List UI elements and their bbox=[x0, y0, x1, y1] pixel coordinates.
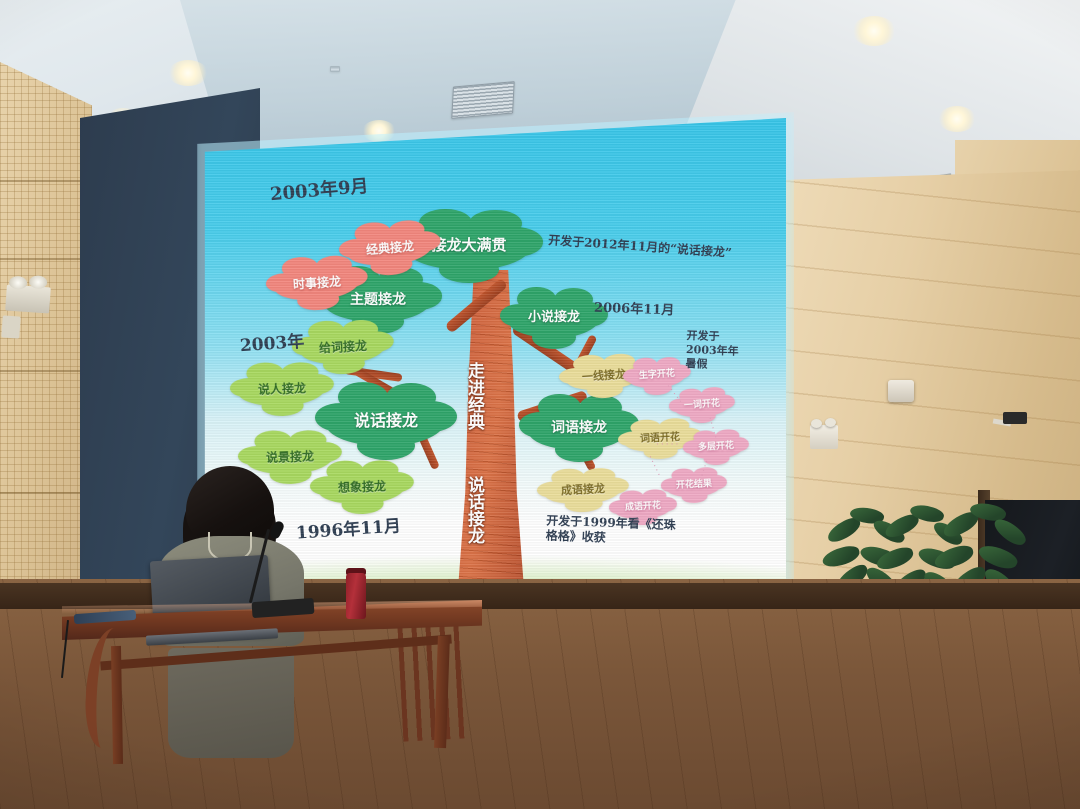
slide-node-chengyu-jielong[interactable]: 成语接龙 bbox=[543, 474, 622, 506]
trunk-text-line1: 走进经典 bbox=[464, 362, 484, 430]
presenter-skirt bbox=[168, 648, 294, 758]
slide-node-shuohua-jielong[interactable]: 说话接龙 bbox=[326, 396, 446, 446]
wall-speaker bbox=[888, 380, 914, 402]
red-thermos[interactable] bbox=[346, 573, 366, 619]
emergency-light bbox=[5, 284, 51, 313]
lecture-hall-photo: 安全出口 走进经典 说话接龙 bbox=[0, 0, 1080, 809]
slide-annotation-1999: 开发于1999年看《还珠格格》收获 bbox=[546, 514, 687, 549]
slide-node-xiaoshuo-jielong[interactable]: 小说接龙 bbox=[508, 298, 600, 338]
slide-node-geici-jielong[interactable]: 给词接龙 bbox=[299, 328, 387, 366]
slide-node-shengzi-kaihua[interactable]: 生字开花 bbox=[627, 362, 687, 390]
ceiling-downlight bbox=[852, 16, 896, 46]
slide-annotation-2003-summer: 开发于 2003年年 暑假 bbox=[685, 329, 742, 372]
slide-annotation-2003: 2003年 bbox=[239, 332, 305, 358]
emergency-light bbox=[810, 425, 838, 449]
ceiling-downlight bbox=[168, 60, 208, 86]
ceiling-downlight bbox=[938, 106, 976, 132]
slide-node-shuoren-jielong[interactable]: 说人接龙 bbox=[237, 370, 326, 407]
slide-node-shuojing-jielong[interactable]: 说景接龙 bbox=[245, 438, 334, 475]
security-camera bbox=[1003, 412, 1027, 424]
slide-node-xiangxiang-jielong[interactable]: 想象接龙 bbox=[317, 468, 406, 505]
chair-back bbox=[397, 608, 470, 741]
wall-socket[interactable] bbox=[1, 315, 20, 338]
ceiling-air-vent bbox=[330, 66, 340, 72]
trunk-text-line2: 说话接龙 bbox=[464, 476, 484, 544]
slide-node-ciyu-jielong[interactable]: 词语接龙 bbox=[528, 406, 630, 450]
slide-annotation-2012: 开发于2012年11月的“说话接龙” bbox=[548, 233, 749, 262]
slide-annotation-2003-09: 2003年9月 bbox=[269, 176, 369, 207]
ceiling-air-vent bbox=[451, 81, 514, 119]
slide-annotation-2006-11: 2006年11月 bbox=[594, 301, 675, 320]
desk-leg bbox=[111, 646, 123, 764]
slide-annotation-1996-11: 1996年11月 bbox=[295, 516, 401, 545]
dot-connector: ····· bbox=[656, 440, 680, 450]
